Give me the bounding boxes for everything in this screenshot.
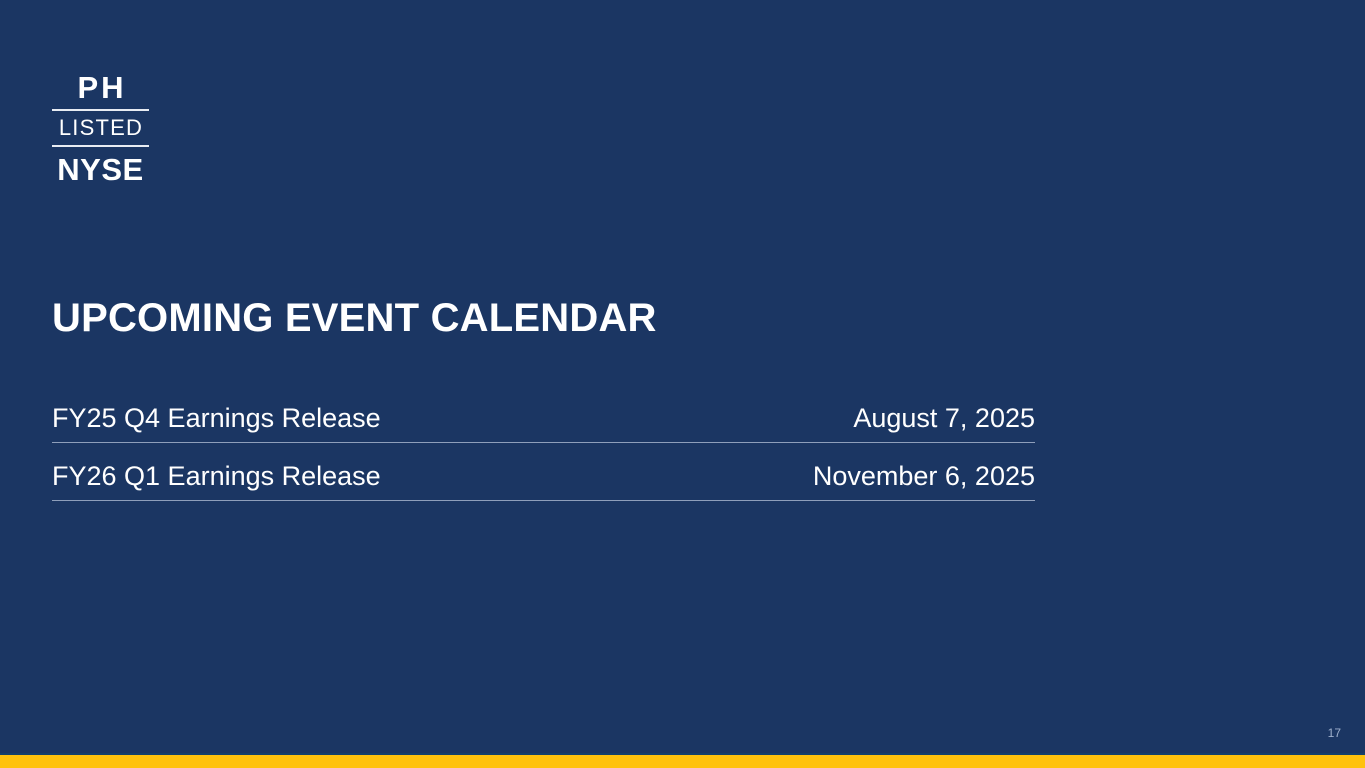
logo-ticker-symbol: PH — [52, 70, 149, 106]
page-title: UPCOMING EVENT CALENDAR — [52, 294, 657, 342]
event-name: FY26 Q1 Earnings Release — [52, 456, 381, 496]
table-row: FY26 Q1 Earnings Release November 6, 202… — [52, 456, 1035, 501]
logo-divider-top — [52, 109, 149, 111]
event-date: August 7, 2025 — [853, 398, 1035, 438]
logo-exchange-name: NYSE — [52, 151, 149, 189]
logo-divider-bottom — [52, 145, 149, 147]
slide-canvas: PH LISTED NYSE UPCOMING EVENT CALENDAR F… — [0, 0, 1365, 768]
accent-bar — [0, 755, 1365, 768]
table-row: FY25 Q4 Earnings Release August 7, 2025 — [52, 398, 1035, 443]
nyse-listed-logo: PH LISTED NYSE — [52, 70, 149, 189]
event-name: FY25 Q4 Earnings Release — [52, 398, 381, 438]
event-calendar-table: FY25 Q4 Earnings Release August 7, 2025 … — [52, 398, 1035, 501]
logo-listed-label: LISTED — [52, 113, 149, 143]
event-date: November 6, 2025 — [813, 456, 1035, 496]
page-number: 17 — [1328, 726, 1341, 740]
